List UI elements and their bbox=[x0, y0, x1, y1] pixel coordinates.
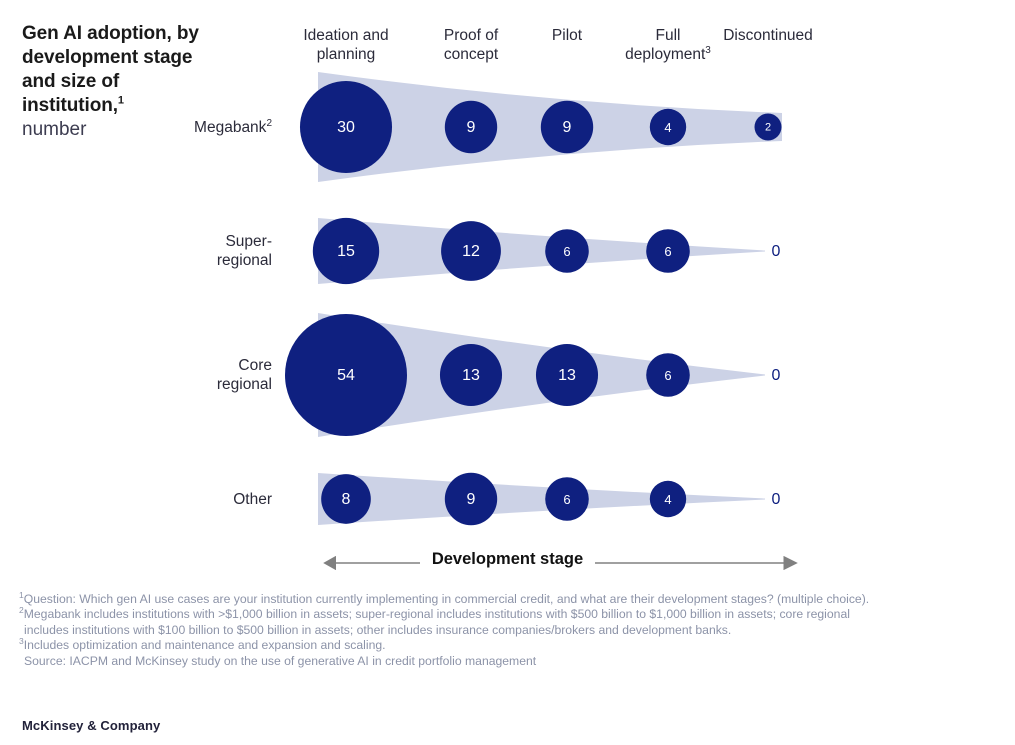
footnote-1: 1Question: Which gen AI use cases are yo… bbox=[19, 592, 1004, 607]
footnote-3: 3Includes optimization and maintenance a… bbox=[19, 638, 1004, 653]
footnote-3-text: Includes optimization and maintenance an… bbox=[24, 638, 386, 652]
row-label-3: Other bbox=[112, 490, 272, 509]
bubble-value-0-4: 2 bbox=[765, 122, 771, 134]
bubble-value-0-1: 9 bbox=[467, 119, 476, 136]
funnel-shape-row-1 bbox=[318, 218, 765, 284]
bubble-value-1-2: 6 bbox=[563, 244, 570, 259]
row-label-1: Super-regional bbox=[112, 232, 272, 270]
bubble-value-2-3: 6 bbox=[664, 368, 671, 383]
bubble-funnel-chart: 30994215126605413136089640 Ideation andp… bbox=[0, 0, 1015, 600]
column-header-0: Ideation andplanning bbox=[271, 26, 421, 64]
source-line: Source: IACPM and McKinsey study on the … bbox=[19, 654, 1004, 669]
bubble-value-0-2: 9 bbox=[563, 119, 572, 136]
row-label-2: Coreregional bbox=[112, 356, 272, 394]
zero-value-2-4: 0 bbox=[772, 367, 781, 384]
bubble-value-3-2: 6 bbox=[563, 492, 570, 507]
bubble-value-3-3: 4 bbox=[664, 492, 671, 507]
row-label-0-footnote: 2 bbox=[266, 117, 272, 128]
footnote-2-text: Megabank includes institutions with >$1,… bbox=[24, 607, 850, 621]
bubble-value-2-2: 13 bbox=[558, 367, 576, 384]
bubble-value-3-0: 8 bbox=[342, 491, 351, 508]
funnel-shape-row-3 bbox=[318, 473, 765, 525]
footnote-2-continued-text: includes institutions with $100 billion … bbox=[24, 623, 731, 637]
bubble-value-1-1: 12 bbox=[462, 243, 480, 260]
column-header-3-footnote: 3 bbox=[705, 45, 711, 56]
bubble-value-0-0: 30 bbox=[337, 119, 355, 136]
axis-label: Development stage bbox=[0, 550, 1015, 569]
bubble-value-1-0: 15 bbox=[337, 243, 355, 260]
bubble-value-1-3: 6 bbox=[664, 244, 671, 259]
bubble-value-0-3: 4 bbox=[664, 120, 671, 135]
chart-canvas: 30994215126605413136089640 bbox=[0, 0, 1015, 600]
zero-value-1-4: 0 bbox=[772, 243, 781, 260]
column-header-4: Discontinued bbox=[698, 26, 838, 45]
row-label-0: Megabank2 bbox=[112, 118, 272, 137]
footnote-1-text: Question: Which gen AI use cases are you… bbox=[24, 592, 869, 606]
bubble-value-2-0: 54 bbox=[337, 367, 355, 384]
bubble-value-2-1: 13 bbox=[462, 367, 480, 384]
footnote-2: 2Megabank includes institutions with >$1… bbox=[19, 607, 1004, 622]
footnotes-block: 1Question: Which gen AI use cases are yo… bbox=[19, 592, 1004, 669]
mckinsey-brand: McKinsey & Company bbox=[22, 718, 160, 733]
axis-label-text: Development stage bbox=[420, 550, 595, 568]
footnote-2-continued: includes institutions with $100 billion … bbox=[19, 623, 1004, 638]
bubble-value-3-1: 9 bbox=[467, 491, 476, 508]
zero-value-3-4: 0 bbox=[772, 491, 781, 508]
